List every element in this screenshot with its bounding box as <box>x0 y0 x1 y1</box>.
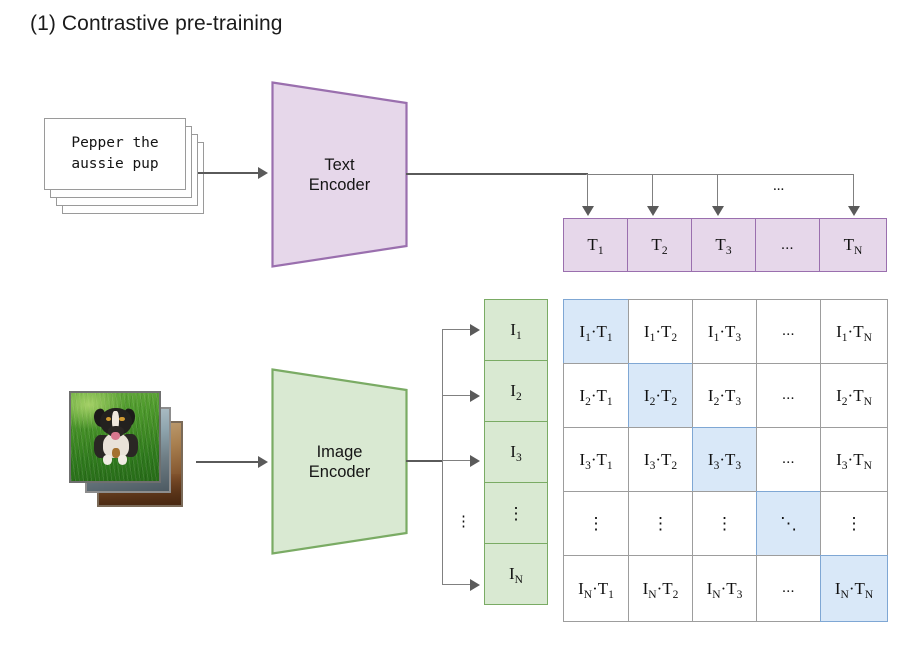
similarity-matrix: I1·T1I1·T2I1·T3...I1·TNI2·T1I2·T2I2·T3..… <box>563 299 887 621</box>
matrix-cell-r2-c2[interactable]: I2·T2 <box>628 363 693 428</box>
image-token-bus <box>442 329 443 585</box>
text-bus-drop-3 <box>717 174 718 210</box>
dog-eye-right <box>119 417 124 421</box>
text-encoder-block[interactable]: Text Encoder <box>271 81 408 268</box>
text-bus-arrow-n <box>848 206 860 216</box>
text-encoder-label: Text Encoder <box>309 155 370 195</box>
image-bus-ellipsis: ⋮ <box>456 512 471 531</box>
matrix-cell-label: I1·T3 <box>708 322 741 342</box>
matrix-cell-label: I1·T2 <box>644 322 677 342</box>
text-token-ellipsis: ... <box>755 218 820 272</box>
caption-text: Pepper the aussie pup <box>71 133 158 175</box>
matrix-cell-label: I2·T2 <box>644 386 677 406</box>
matrix-cell-r1-c5[interactable]: I1·TN <box>820 299 888 364</box>
text-token-ellipsis-label: ... <box>781 237 794 254</box>
image-encoder-output-wire <box>406 460 443 462</box>
matrix-cell-r1-c3[interactable]: I1·T3 <box>692 299 757 364</box>
text-bus-drop-2 <box>652 174 653 210</box>
matrix-cell-r4-c1[interactable]: ⋮ <box>563 491 629 556</box>
text-bus-drop-1 <box>587 174 588 210</box>
matrix-cell-r3-c4[interactable]: ... <box>756 427 821 492</box>
text-token-t3[interactable]: T3 <box>691 218 756 272</box>
text-bus-arrow-1 <box>582 206 594 216</box>
figure-title: (1) Contrastive pre-training <box>30 12 283 36</box>
image-encoder-block[interactable]: Image Encoder <box>271 368 408 555</box>
image-token-in[interactable]: IN <box>484 543 548 605</box>
matrix-cell-label: I3·T1 <box>579 450 612 470</box>
image-token-i2-label: I2 <box>510 381 521 401</box>
text-token-t2[interactable]: T2 <box>627 218 692 272</box>
matrix-cell-label: I1·T1 <box>579 322 612 342</box>
matrix-cell-vertical-ellipsis: ⋮ <box>846 515 863 532</box>
text-bus-arrow-2 <box>647 206 659 216</box>
image-bus-arrow-1 <box>470 324 480 336</box>
matrix-cell-r1-c4[interactable]: ... <box>756 299 821 364</box>
matrix-cell-r5-c3[interactable]: IN·T3 <box>692 555 757 622</box>
caption-to-text-encoder-wire <box>198 172 260 174</box>
matrix-cell-r5-c4[interactable]: ... <box>756 555 821 622</box>
matrix-cell-r3-c3[interactable]: I3·T3 <box>692 427 757 492</box>
image-bus-branch-2 <box>442 395 472 396</box>
caption-card-front: Pepper the aussie pup <box>44 118 186 190</box>
matrix-cell-vertical-ellipsis: ⋮ <box>588 515 605 532</box>
photo-front-puppy <box>69 391 161 483</box>
text-token-bus <box>586 174 854 175</box>
text-bus-arrow-3 <box>712 206 724 216</box>
matrix-cell-r3-c5[interactable]: I3·TN <box>820 427 888 492</box>
image-token-i1-label: I1 <box>510 320 521 340</box>
matrix-cell-r4-c2[interactable]: ⋮ <box>628 491 693 556</box>
text-token-tn-label: TN <box>844 235 863 255</box>
caption-to-text-encoder-arrowhead <box>258 167 268 179</box>
matrix-cell-r4-c5[interactable]: ⋮ <box>820 491 888 556</box>
image-bus-arrow-3 <box>470 455 480 467</box>
image-token-i1[interactable]: I1 <box>484 299 548 361</box>
matrix-cell-label: IN·T3 <box>707 579 743 599</box>
image-bus-branch-n <box>442 584 472 585</box>
caption-card-stack: Pepper the aussie pup <box>44 118 214 218</box>
text-token-tn[interactable]: TN <box>819 218 887 272</box>
text-encoder-output-wire <box>406 173 588 175</box>
matrix-cell-label: I3·TN <box>836 450 872 470</box>
matrix-cell-label: I3·T3 <box>708 450 741 470</box>
matrix-cell-r3-c2[interactable]: I3·T2 <box>628 427 693 492</box>
image-bus-branch-3 <box>442 460 472 461</box>
image-photo-stack <box>69 391 199 516</box>
matrix-cell-r4-c3[interactable]: ⋮ <box>692 491 757 556</box>
image-encoder-label: Image Encoder <box>309 442 370 482</box>
figure-canvas: (1) Contrastive pre-training Pepper the … <box>0 0 906 654</box>
photo-to-image-encoder-arrowhead <box>258 456 268 468</box>
text-token-t3-label: T3 <box>715 235 731 255</box>
matrix-cell-label: I2·T1 <box>579 386 612 406</box>
photo-to-image-encoder-wire <box>196 461 260 463</box>
image-token-i3[interactable]: I3 <box>484 421 548 483</box>
matrix-cell-horizontal-ellipsis: ... <box>782 580 795 597</box>
matrix-cell-label: I2·TN <box>836 386 872 406</box>
image-token-ellipsis: ⋮ <box>484 482 548 544</box>
dog-tongue <box>111 432 120 440</box>
matrix-cell-r2-c3[interactable]: I2·T3 <box>692 363 757 428</box>
matrix-cell-diagonal-ellipsis: ⋱ <box>780 515 797 532</box>
image-token-ellipsis-label: ⋮ <box>508 505 525 522</box>
matrix-cell-r4-c4[interactable]: ⋱ <box>756 491 821 556</box>
matrix-cell-r2-c1[interactable]: I2·T1 <box>563 363 629 428</box>
matrix-cell-r1-c1[interactable]: I1·T1 <box>563 299 629 364</box>
matrix-cell-label: I3·T2 <box>644 450 677 470</box>
matrix-cell-label: I2·T3 <box>708 386 741 406</box>
matrix-cell-horizontal-ellipsis: ... <box>782 451 795 468</box>
matrix-cell-r5-c2[interactable]: IN·T2 <box>628 555 693 622</box>
matrix-cell-vertical-ellipsis: ⋮ <box>716 515 733 532</box>
image-token-in-label: IN <box>509 564 523 584</box>
text-bus-drop-n <box>853 174 854 210</box>
matrix-cell-horizontal-ellipsis: ... <box>782 387 795 404</box>
matrix-cell-r3-c1[interactable]: I3·T1 <box>563 427 629 492</box>
matrix-cell-label: IN·T2 <box>643 579 679 599</box>
image-bus-branch-1 <box>442 329 472 330</box>
matrix-cell-label: IN·TN <box>835 579 873 599</box>
matrix-cell-r5-c1[interactable]: IN·T1 <box>563 555 629 622</box>
matrix-cell-label: IN·T1 <box>578 579 614 599</box>
matrix-cell-r1-c2[interactable]: I1·T2 <box>628 299 693 364</box>
text-bus-ellipsis: ... <box>773 178 784 195</box>
image-token-i3-label: I3 <box>510 442 521 462</box>
matrix-cell-r5-c5[interactable]: IN·TN <box>820 555 888 622</box>
matrix-cell-horizontal-ellipsis: ... <box>782 323 795 340</box>
matrix-cell-r2-c5[interactable]: I2·TN <box>820 363 888 428</box>
text-token-t1[interactable]: T1 <box>563 218 628 272</box>
text-token-t1-label: T1 <box>587 235 603 255</box>
matrix-cell-r2-c4[interactable]: ... <box>756 363 821 428</box>
matrix-cell-vertical-ellipsis: ⋮ <box>652 515 669 532</box>
image-bus-arrow-n <box>470 579 480 591</box>
image-token-i2[interactable]: I2 <box>484 360 548 422</box>
image-bus-arrow-2 <box>470 390 480 402</box>
text-token-t2-label: T2 <box>651 235 667 255</box>
matrix-cell-label: I1·TN <box>836 322 872 342</box>
